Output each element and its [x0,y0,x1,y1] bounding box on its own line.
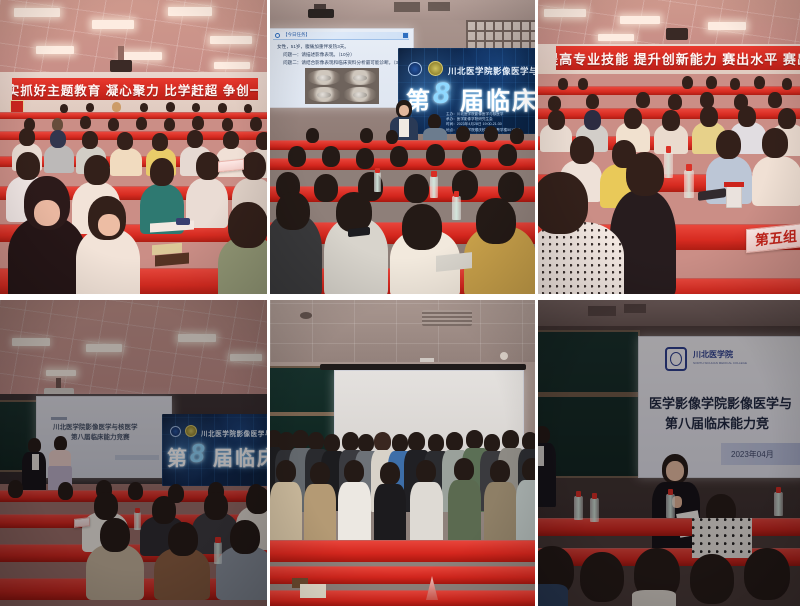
photo-top-right: 提高专业技能 提升创新能力 赛出水平 赛出 [538,0,800,294]
photo6-logo-text: 川北医学院 [693,349,733,360]
photo1-banner-text: 扎实抓好主题教育 凝心聚力 比学赶超 争创一流 [12,80,258,99]
photo2-banner-org: 川北医学院影像医学与核医学 [448,65,535,77]
ct-slice [343,87,377,102]
photo2-stage-banner: 川北医学院影像医学与核医学 第 8 届临床能力 主办：川北医学院影像医学与核医学… [398,48,535,134]
banner-info-line [200,468,201,472]
photo-bottom-right: 川北医学院 NORTH SICHUAN MEDICAL COLLEGE 医学影像… [538,300,800,606]
photo3-banner: 提高专业技能 提升创新能力 赛出水平 赛出 [556,46,800,70]
photo2-slide-line-1: 女性，51岁，腹痛加重伴发热3天。 [277,44,349,50]
photo4-banner-prefix: 第 [167,442,189,471]
ct-slice [307,87,341,102]
photo4-slide-subtitle: 第八届临床能力竞赛 [71,431,130,441]
photo-collage: 扎实抓好主题教育 凝心聚力 比学赶超 争创一流 [0,0,800,606]
photo2-slide-line-2: 问题一：请描述影像表现。（10分） [283,52,355,58]
photo6-slide-date: 2023年04月 [731,449,774,460]
photo1-banner: 扎实抓好主题教育 凝心聚力 比学赶超 争创一流 [12,78,258,100]
photo-bottom-center [270,300,535,606]
photo-bottom-left: 川北医学院影像医学与核医学 第八届临床能力竞赛 川北医学院影像医学与核医学 第 … [0,300,267,606]
ct-slice [307,70,341,85]
photo6-title-slide: 川北医学院 NORTH SICHUAN MEDICAL COLLEGE 医学影像… [638,336,800,478]
photo-top-center: 【今日任务】 女性，51岁，腹痛加重伴发热3天。 问题一：请描述影像表现。（10… [270,0,535,294]
photo2-projection-screen: 【今日任务】 女性，51岁，腹痛加重伴发热3天。 问题一：请描述影像表现。（10… [270,28,414,108]
photo2-banner-suffix: 届临床能力 [460,81,535,116]
photo6-slide-title-line1: 医学影像学院影像医学与 [649,393,792,412]
photo6-slide-title-line2: 第八届临床能力竞 [665,413,769,432]
photo2-slide-header: 【今日任务】 [283,32,310,38]
photo4-banner-number: 8 [190,438,204,469]
photo4-banner-org: 川北医学院影像医学与核医学 [201,428,267,438]
photo2-ct-images [305,68,379,104]
ct-slice [343,70,377,85]
photo2-banner-number: 8 [433,77,450,111]
photo6-logo-sub: NORTH SICHUAN MEDICAL COLLEGE [693,361,747,365]
photo4-stage-banner: 川北医学院影像医学与核医学 第 8 届临床能力 [162,414,267,486]
photo2-slide-line-3: 问题二：请结合影像表现和临床资料分析最可能诊断。（30分） [283,60,410,66]
photo3-banner-text: 提高专业技能 提升创新能力 赛出水平 赛出 [556,49,800,68]
photo4-banner-suffix: 届临床能力 [213,442,267,471]
photo-top-left: 扎实抓好主题教育 凝心聚力 比学赶超 争创一流 [0,0,267,294]
photo4-slide-title: 川北医学院影像医学与核医学 [53,421,138,431]
photo3-table-sign-text: 第五组 [755,226,797,250]
